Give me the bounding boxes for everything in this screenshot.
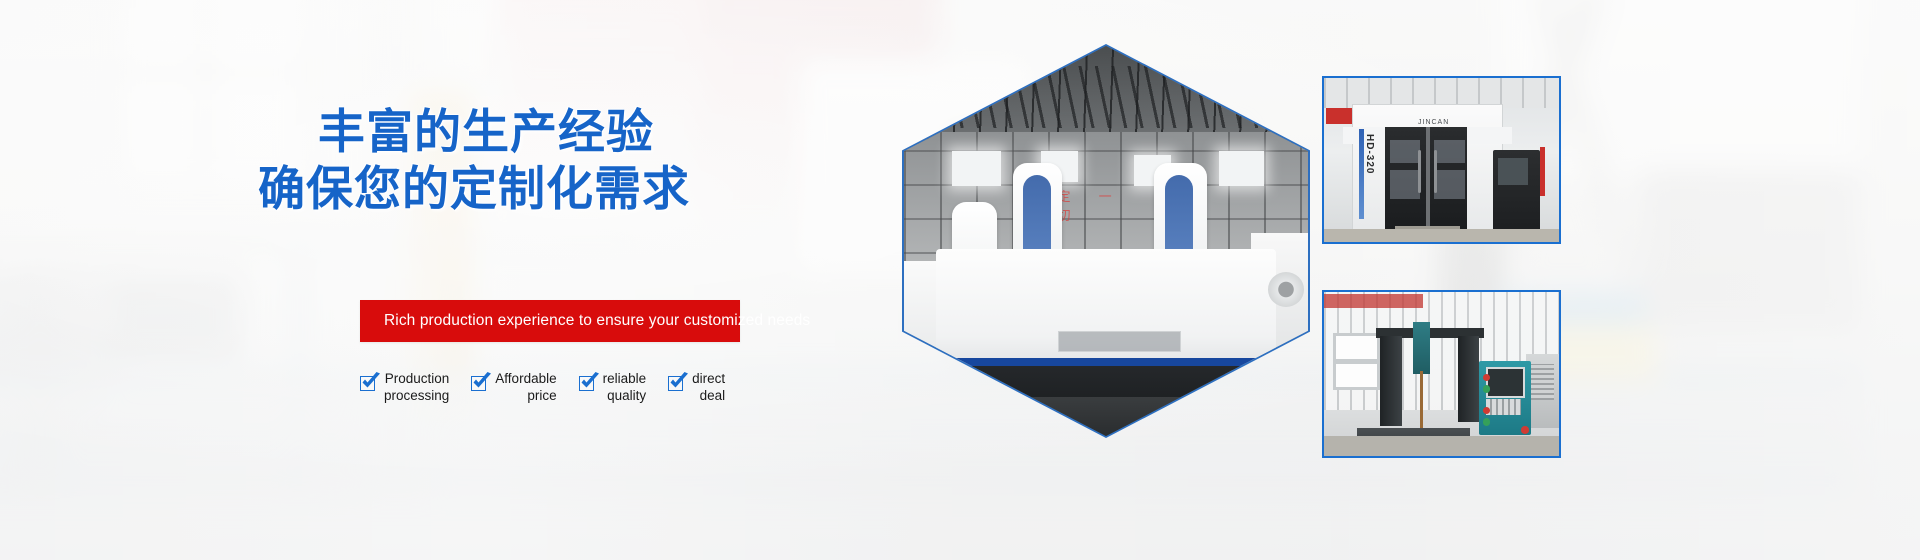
- thumbnail-photo-2: [1322, 290, 1561, 458]
- feature-label: reliable quality: [603, 370, 647, 404]
- thumb2-floor: [1324, 436, 1559, 456]
- headline-line-1: 丰富的生产经验: [0, 104, 690, 161]
- thumb2-button-green: [1483, 418, 1491, 425]
- feature-label-line1: Production: [384, 370, 449, 387]
- thumb2-button-green: [1483, 385, 1491, 392]
- checkbox-checked-icon: [668, 376, 685, 393]
- feature-label-line1: reliable: [603, 370, 647, 387]
- feature-label-line2: deal: [692, 387, 725, 404]
- feature-label-line1: Affordable: [495, 370, 556, 387]
- feature-item: direct deal: [668, 370, 725, 404]
- thumb2-window-mullion: [1333, 359, 1380, 364]
- thumb2-control-screen: [1486, 367, 1525, 397]
- thumb1-brand-label: JINCAN: [1418, 119, 1449, 126]
- feature-label-line2: quality: [603, 387, 647, 404]
- checkbox-checked-icon: [360, 376, 377, 393]
- photo-wall-sign: 定 一 切: [1058, 186, 1163, 206]
- photo-machine-body: [936, 249, 1275, 374]
- checkbox-checked-icon: [579, 376, 596, 393]
- thumb1-floor: [1324, 229, 1559, 242]
- thumb1-door-glass: [1434, 170, 1465, 200]
- thumb2-drill-spindle: [1420, 371, 1423, 428]
- photo-coil: [1268, 272, 1304, 307]
- thumb1-door-glass: [1390, 140, 1421, 163]
- thumb2-gantry-column: [1380, 336, 1401, 426]
- thumb1-door-split: [1426, 127, 1430, 229]
- subtitle-text: Rich production experience to ensure you…: [360, 312, 810, 330]
- thumb1-door-handle: [1418, 150, 1421, 193]
- thumb1-door-handle: [1434, 150, 1437, 193]
- thumb1-model-label: HD-320: [1364, 134, 1375, 174]
- checkbox-checked-icon: [471, 376, 488, 393]
- feature-label: Affordable price: [495, 370, 556, 404]
- thumb2-red-banner: [1324, 294, 1423, 309]
- hero-banner: 丰富的生产经验 确保您的定制化需求 Rich production experi…: [0, 0, 1920, 560]
- thumb1-control-screen: [1498, 158, 1529, 184]
- thumb2-cabinet-vent: [1528, 364, 1554, 400]
- thumb2-emergency-stop: [1521, 426, 1529, 433]
- thumb2-control-keypad: [1486, 399, 1521, 415]
- headline-line-2: 确保您的定制化需求: [0, 161, 690, 218]
- subtitle-bar: Rich production experience to ensure you…: [360, 300, 740, 342]
- thumb2-drill-head: [1413, 322, 1429, 374]
- thumb1-roof: [1324, 78, 1559, 108]
- feature-label: Production processing: [384, 370, 449, 404]
- photo-window: [1219, 151, 1263, 186]
- feature-label-line1: direct: [692, 370, 725, 387]
- thumb1-door-glass: [1390, 170, 1421, 200]
- thumb1-red-edge: [1540, 147, 1545, 196]
- feature-item: Production processing: [360, 370, 449, 404]
- photo-machine-window: [1058, 331, 1181, 353]
- banner-headline: 丰富的生产经验 确保您的定制化需求: [0, 104, 690, 218]
- feature-item: Affordable price: [471, 370, 556, 404]
- thumb2-gantry-column: [1458, 336, 1479, 421]
- feature-label: direct deal: [692, 370, 725, 404]
- feature-label-line2: processing: [384, 387, 449, 404]
- photo-window: [952, 151, 1000, 186]
- feature-list: Production processing Affordable price: [360, 370, 760, 404]
- banner-copy: 丰富的生产经验 确保您的定制化需求 Rich production experi…: [0, 0, 760, 560]
- feature-item: reliable quality: [579, 370, 647, 404]
- feature-label-line2: price: [495, 387, 556, 404]
- thumbnail-photo-1: HD-320 JINCAN: [1322, 76, 1561, 244]
- thumb1-door-glass: [1434, 140, 1465, 163]
